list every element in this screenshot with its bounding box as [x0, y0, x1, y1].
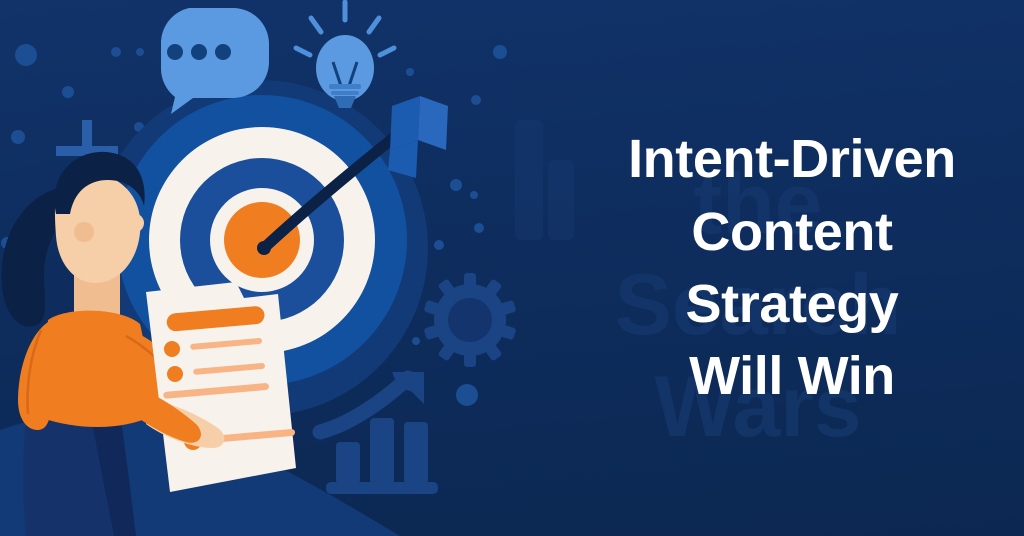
headline-line-3: Strategy — [686, 268, 899, 340]
headline-line-4: Will Win — [689, 340, 895, 412]
gear-icon — [423, 273, 516, 367]
headline-line-1: Intent-Driven — [628, 123, 956, 195]
ear — [74, 222, 94, 242]
document-bullet — [167, 366, 183, 382]
promo-banner: the Search Wars Intent-Driven Content St… — [0, 0, 1024, 536]
document-bullet — [164, 341, 180, 357]
headline-line-2: Content — [691, 196, 892, 268]
headline: Intent-Driven Content Strategy Will Win — [560, 0, 1024, 536]
